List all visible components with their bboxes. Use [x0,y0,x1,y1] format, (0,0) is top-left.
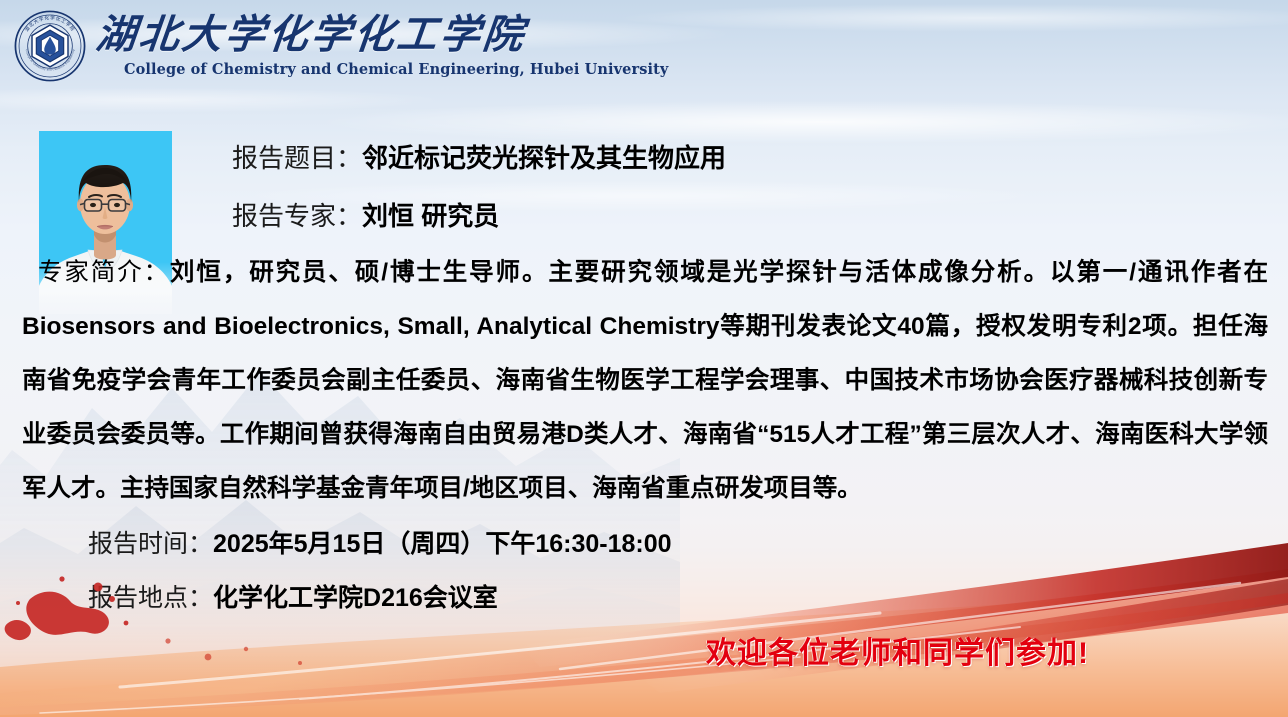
lecture-speaker-row: 报告专家：刘恒 研究员 [232,196,499,233]
lecture-title-value: 邻近标记荧光探针及其生物应用 [362,143,726,173]
speaker-bio-block: 专家简介：刘恒，研究员、硕/博士生导师。主要研究领域是光学探针与活体成像分析。以… [22,246,1268,516]
speaker-bio-value: 刘恒，研究员、硕/博士生导师。主要研究领域是光学探针与活体成像分析。以第一/通讯… [22,259,1268,502]
background-ink-sweep [0,517,1288,717]
poster-canvas: 湖北大学化学化工学院 College of Chemistry and Chem… [0,0,1288,717]
lecture-speaker-value: 刘恒 研究员 [362,201,499,231]
lecture-speaker-label: 报告专家： [232,201,362,231]
welcome-message: 欢迎各位老师和同学们参加! [706,628,1089,672]
lecture-title-label: 报告题目： [232,143,362,173]
speaker-bio-label: 专家简介： [38,259,170,286]
lecture-title-row: 报告题目：邻近标记荧光探针及其生物应用 [232,138,726,175]
